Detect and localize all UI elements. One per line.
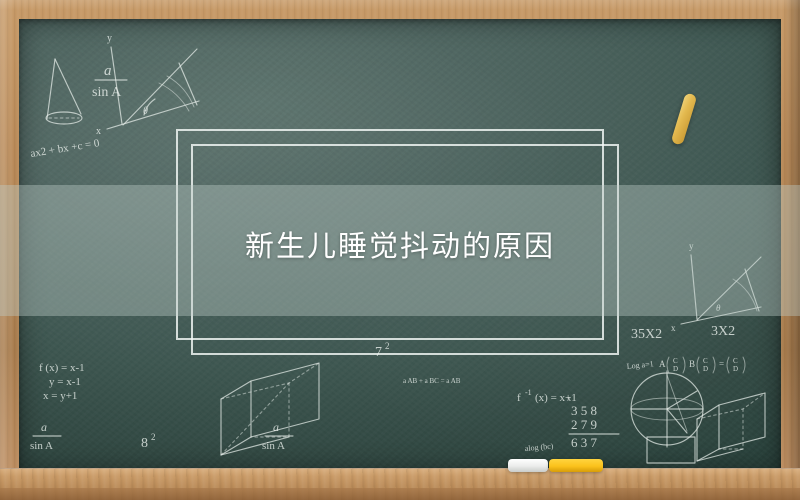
- svg-text:A: A: [659, 359, 666, 369]
- chalkboard-poster: a sin A y x θ: [0, 0, 800, 500]
- svg-text:x: x: [671, 323, 676, 333]
- page-title: 新生儿睡觉抖动的原因: [0, 226, 800, 266]
- fraction-a-sina-bottomcenter: a sin A: [262, 420, 293, 452]
- svg-text:6 3 7: 6 3 7: [571, 435, 598, 450]
- sphere-diagram: [631, 371, 703, 447]
- svg-text:Log a=1: Log a=1: [626, 359, 654, 371]
- svg-text:x = y+1: x = y+1: [43, 390, 77, 402]
- log-expression: Log a=1: [626, 359, 654, 371]
- svg-text:C: C: [703, 357, 708, 365]
- svg-text:sin A: sin A: [262, 440, 285, 452]
- square-diagram-right: [647, 437, 695, 463]
- svg-text:ax2 + bx +c = 0: ax2 + bx +c = 0: [30, 137, 101, 160]
- eight-squared: 8: [141, 436, 148, 451]
- svg-text:a: a: [273, 420, 279, 434]
- svg-text:y = x-1: y = x-1: [49, 376, 81, 388]
- svg-text:=: =: [719, 359, 724, 369]
- svg-text:alog (bc): alog (bc): [524, 442, 554, 453]
- chalk-tray-lip: [0, 488, 800, 500]
- fraction-a-sina-bottomleft: a sin A: [30, 420, 61, 452]
- svg-text:D: D: [673, 365, 678, 373]
- svg-text:(x) = x+1: (x) = x+1: [535, 392, 577, 404]
- quadratic-equation-text: ax2 + bx +c = 0: [30, 137, 101, 160]
- svg-text:f (x) = x-1: f (x) = x-1: [39, 362, 85, 374]
- addition-sum: 3 5 8 2 7 9 6 3 7 x: [567, 394, 619, 450]
- svg-text:3X2: 3X2: [711, 324, 735, 339]
- function-equations: f (x) = x-1 y = x-1 x = y+1: [39, 362, 85, 402]
- svg-text:f: f: [517, 392, 521, 404]
- svg-text:3 5 8: 3 5 8: [571, 403, 597, 418]
- svg-text:a AB + a BC = a AB: a AB + a BC = a AB: [403, 377, 461, 385]
- svg-text:D: D: [733, 365, 738, 373]
- cube-diagram-right: [697, 393, 765, 461]
- cube-diagram-center: [221, 363, 319, 455]
- svg-text:C: C: [733, 357, 738, 365]
- svg-text:sin A: sin A: [92, 85, 122, 100]
- yellow-chalk-icon: [549, 459, 603, 472]
- fraction-a-sina-topleft: a sin A: [92, 63, 127, 100]
- svg-text:θ: θ: [143, 106, 148, 117]
- svg-text:D: D: [703, 365, 708, 373]
- svg-text:a: a: [104, 63, 112, 79]
- svg-text:2 7 9: 2 7 9: [571, 417, 597, 432]
- svg-text:a: a: [41, 420, 47, 434]
- cone-icon: [46, 59, 82, 124]
- svg-text:x: x: [567, 394, 571, 403]
- svg-text:B: B: [689, 359, 695, 369]
- alog-expression: alog (bc): [524, 442, 554, 453]
- white-chalk-icon: [508, 459, 548, 472]
- svg-text:2: 2: [151, 432, 156, 442]
- triangle-vector-equation: a AB + a BC = a AB: [403, 377, 461, 385]
- svg-text:-1: -1: [525, 388, 532, 397]
- inverse-function-equation: f -1 (x) = x+1: [517, 388, 577, 404]
- svg-text:C: C: [673, 357, 678, 365]
- svg-text:35X2: 35X2: [631, 327, 662, 342]
- svg-text:y: y: [107, 33, 112, 44]
- matrix-expression: A C D B C D = C D: [659, 357, 745, 373]
- svg-text:sin A: sin A: [30, 440, 53, 452]
- angle-diagram-topleft: y x θ: [96, 33, 199, 137]
- power-expressions-right: 35X2 3X2: [631, 324, 735, 342]
- svg-text:x: x: [96, 126, 101, 137]
